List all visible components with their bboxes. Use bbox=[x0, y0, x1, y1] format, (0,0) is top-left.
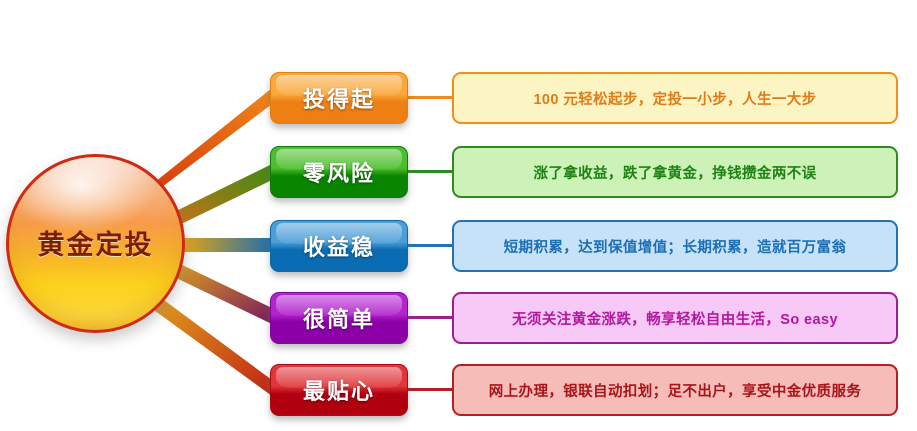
description-text: 涨了拿收益，跌了拿黄金，挣钱攒金两不误 bbox=[525, 162, 824, 183]
description-box-5[interactable]: 网上办理，银联自动扣划；足不出户，享受中金优质服务 bbox=[452, 364, 898, 416]
tag-to-description-line bbox=[408, 96, 452, 99]
tag-to-description-line bbox=[408, 244, 452, 247]
description-box-3[interactable]: 短期积累，达到保值增值；长期积累，造就百万富翁 bbox=[452, 220, 898, 272]
tag-to-description-line bbox=[408, 170, 452, 173]
description-text: 短期积累，达到保值增值；长期积累，造就百万富翁 bbox=[496, 236, 855, 257]
hub-label: 黄金定投 bbox=[38, 223, 154, 262]
tag-button-1[interactable]: 投得起 bbox=[270, 72, 408, 124]
tag-to-description-line bbox=[408, 388, 452, 391]
tag-label: 收益稳 bbox=[303, 230, 375, 262]
tag-button-5[interactable]: 最贴心 bbox=[270, 364, 408, 416]
tag-label: 很简单 bbox=[303, 302, 375, 334]
spoke-3 bbox=[184, 238, 272, 252]
tag-button-4[interactable]: 很简单 bbox=[270, 292, 408, 344]
tag-button-2[interactable]: 零风险 bbox=[270, 146, 408, 198]
tag-label: 零风险 bbox=[303, 156, 375, 188]
tag-button-3[interactable]: 收益稳 bbox=[270, 220, 408, 272]
description-text: 无须关注黄金涨跌，畅享轻松自由生活，So easy bbox=[504, 308, 846, 329]
radial-diagram: 黄金定投 投得起100 元轻松起步，定投一小步，人生一大步零风险涨了拿收益，跌了… bbox=[0, 0, 917, 431]
spoke-4 bbox=[170, 261, 272, 324]
description-box-4[interactable]: 无须关注黄金涨跌，畅享轻松自由生活，So easy bbox=[452, 292, 898, 344]
description-box-1[interactable]: 100 元轻松起步，定投一小步，人生一大步 bbox=[452, 72, 898, 124]
description-box-2[interactable]: 涨了拿收益，跌了拿黄金，挣钱攒金两不误 bbox=[452, 146, 898, 198]
description-text: 100 元轻松起步，定投一小步，人生一大步 bbox=[525, 88, 824, 109]
tag-label: 最贴心 bbox=[303, 374, 375, 406]
spoke-2 bbox=[172, 164, 272, 227]
description-text: 网上办理，银联自动扣划；足不出户，享受中金优质服务 bbox=[481, 380, 870, 401]
tag-to-description-line bbox=[408, 316, 452, 319]
hub-circle[interactable]: 黄金定投 bbox=[6, 154, 185, 333]
tag-label: 投得起 bbox=[303, 82, 375, 114]
